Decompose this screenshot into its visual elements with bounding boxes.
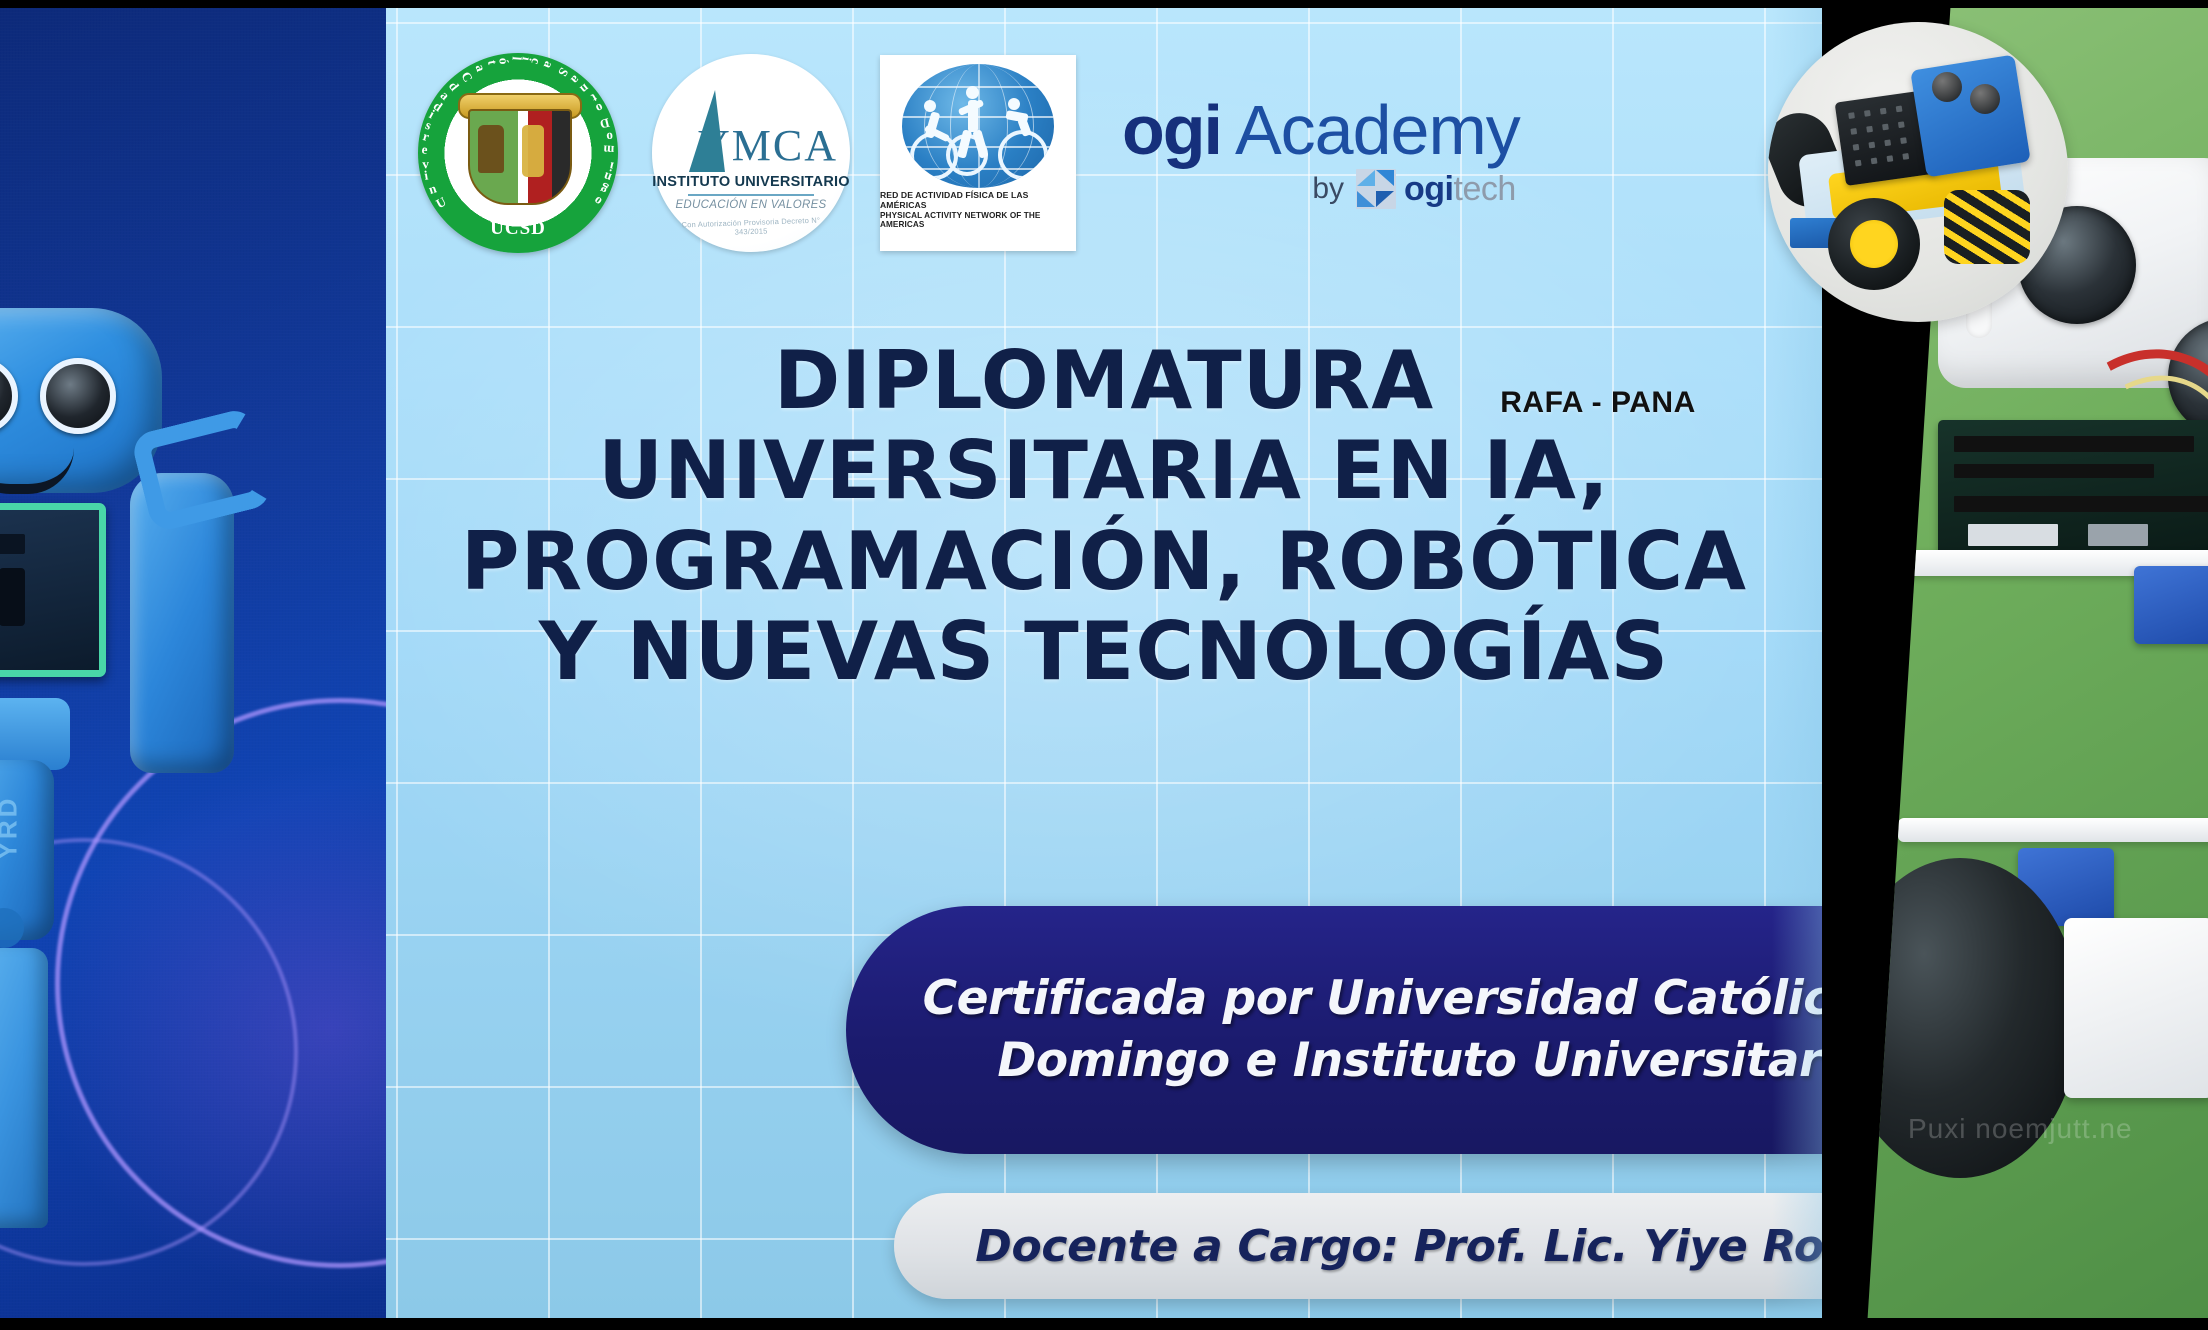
robot-car-circle-photo <box>1768 22 2068 322</box>
ucsd-logo: U n i v e r s i d a d C a t ó l i <box>418 53 618 253</box>
ogi-brand-light: Academy <box>1235 97 1520 164</box>
car-wheel-hub <box>1850 220 1898 268</box>
robot-eye-left <box>0 358 18 434</box>
ymca-subtitle-2: EDUCACIÓN EN VALORES <box>675 199 826 211</box>
blue-servo-1 <box>2134 566 2208 644</box>
certification-line-2: Domingo e Instituto Universitario YMCA <box>997 1030 1822 1092</box>
page-title: DIPLOMATURA UNIVERSITARIA EN IA, PROGRAM… <box>386 336 1822 698</box>
center-content-panel: U n i v e r s i d a d C a t ó l i <box>386 8 1822 1318</box>
partner-logo-row: U n i v e r s i d a d C a t ó l i <box>386 38 1822 268</box>
rafa-globe-icon <box>902 64 1054 188</box>
robot-chassis-deck-lower <box>1898 818 2208 842</box>
white-robot-photo: Puxi noemjutt.ne <box>1868 158 2208 1278</box>
rafa-pana-subtitle-es: RED DE ACTIVIDAD FÍSICA DE LAS AMÉRICAS <box>880 190 1076 210</box>
robot-smile <box>0 448 74 494</box>
letterbox-bottom-bar <box>0 1318 2208 1330</box>
presentation-slide: YRD YRD U n i v e r <box>0 0 2208 1330</box>
car-front-wheel <box>1828 198 1920 290</box>
robot-circuit-board <box>0 503 106 677</box>
car-blue-head <box>1910 54 2031 177</box>
robot-thigh-label-right: YRD <box>0 796 23 860</box>
ogi-academy-wordmark: ogi Academy <box>1122 97 1520 164</box>
instructor-text: Docente a Cargo: Prof. Lic. Yiye Rocha D… <box>975 1221 1822 1272</box>
ucsd-heraldry-left <box>478 125 504 173</box>
rafa-pana-logo: RAFA - PANA RED DE ACTIVIDAD FÍSICA DE L… <box>880 55 1076 251</box>
title-line-3: PROGRAMACIÓN, ROBÓTICA <box>386 517 1822 607</box>
car-mecanum-wheel <box>1944 190 2030 264</box>
rafa-pana-subtitle-en: PHYSICAL ACTIVITY NETWORK OF THE AMERICA… <box>880 211 1076 229</box>
ogitech-bold: ogi <box>1404 170 1453 209</box>
ucsd-heraldry-right <box>522 125 544 177</box>
ucsd-acronym: UCSD <box>418 218 618 240</box>
ogitech-pinwheel-icon <box>1356 169 1396 209</box>
title-line-2: UNIVERSITARIA EN IA, <box>386 426 1822 516</box>
arduino-board <box>1938 420 2208 560</box>
blue-humanoid-robot: YRD YRD <box>0 308 332 1308</box>
robot-eye-right <box>40 358 116 434</box>
stock-photo-watermark: Puxi noemjutt.ne <box>1908 1113 2208 1145</box>
ymca-divider <box>688 194 814 196</box>
ymca-subtitle-1: INSTITUTO UNIVERSITARIO <box>652 174 849 190</box>
certification-banner: Certificada por Universidad Católica de … <box>846 906 1822 1154</box>
title-line-1: DIPLOMATURA <box>386 336 1822 426</box>
ogitech-byline: by ogi tech <box>1312 169 1515 209</box>
ogi-brand-bold: ogi <box>1122 97 1221 164</box>
certification-line-1: Certificada por Universidad Católica de … <box>923 968 1822 1030</box>
car-sensor-eye-right <box>1970 84 2000 114</box>
ymca-fineprint: Con Autorización Provisoria Decreto N° 3… <box>676 215 827 238</box>
robot-battery-box <box>2064 918 2208 1098</box>
letterbox-top-bar <box>0 0 2208 8</box>
left-robot-panel: YRD YRD <box>0 8 388 1318</box>
title-line-4: Y NUEVAS TECNOLOGÍAS <box>386 607 1822 697</box>
robot-shin-right <box>0 948 48 1228</box>
car-sensor-eye-left <box>1932 72 1962 102</box>
ogi-academy-logo: ogi Academy by ogi tech <box>1122 97 1520 210</box>
ogi-by-label: by <box>1312 172 1344 206</box>
ymca-logo: YMCA INSTITUTO UNIVERSITARIO EDUCACIÓN E… <box>652 54 850 252</box>
ogitech-light: tech <box>1454 170 1516 209</box>
instructor-banner: Docente a Cargo: Prof. Lic. Yiye Rocha D… <box>894 1193 1822 1299</box>
